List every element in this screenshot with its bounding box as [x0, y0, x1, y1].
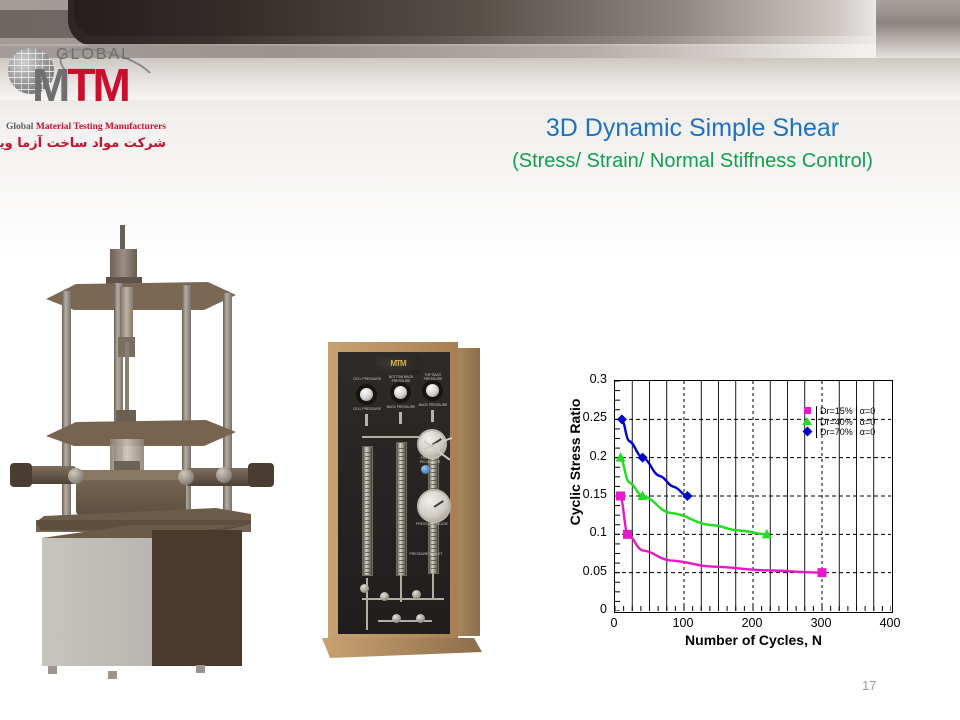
chart-legend-row: Dr=15%α=0 — [798, 406, 878, 417]
machine-foot-2 — [108, 671, 117, 679]
console-valve-2[interactable] — [399, 412, 402, 424]
machine-right-actuator-motor — [248, 463, 274, 487]
console-gauge-label-2: PRESSURE REGULATOR — [412, 456, 448, 464]
load-frame-figure — [10, 225, 280, 670]
chart-x-tick-3: 300 — [796, 616, 846, 630]
console-pipe-vertical-3 — [432, 572, 434, 600]
control-panel-figure: MTM CELL PRESSURE BOTTOM BACK PRESSURE T… — [320, 342, 490, 668]
chart-y-tick-1: 0.05 — [545, 564, 607, 578]
chart-legend-label: Dr=70% — [817, 427, 857, 438]
page-subtitle: (Stress/ Strain/ Normal Stiffness Contro… — [440, 150, 945, 173]
chart-y-tick-2: 0.1 — [545, 525, 607, 539]
machine-lower-housing-highlight — [76, 470, 186, 480]
header-band-right-block — [876, 0, 960, 58]
console-switch-label-3: TOP BACK PRESSURE — [416, 373, 450, 381]
cyclic-stress-ratio-chart: Cyclic Stress Ratio 00.050.10.150.20.250… — [545, 360, 915, 660]
chart-legend-table: Dr=15%α=0Dr=40%α=0Dr=70%α=0 — [798, 406, 878, 438]
console-outlet-knob-1[interactable] — [360, 584, 369, 593]
machine-left-actuator-motor — [10, 463, 32, 487]
console-blue-knob[interactable] — [421, 465, 430, 474]
console-switch-label-1: CELL PRESSURE — [350, 377, 384, 381]
chart-x-tick-2: 200 — [727, 616, 777, 630]
console-switch-label-2: BOTTOM BACK PRESSURE — [384, 375, 418, 383]
chart-y-tick-0: 0 — [545, 602, 607, 616]
console-switch-1[interactable] — [360, 388, 373, 401]
console-outlet-knob-2[interactable] — [380, 592, 389, 601]
logo-mtm-t: T — [67, 59, 92, 111]
logo-tagline-part1: Global — [6, 122, 36, 132]
chart-legend-alpha: α=0 — [856, 417, 878, 428]
console-pressure-needle — [434, 500, 444, 507]
machine-plinth-front — [42, 538, 152, 666]
chart-legend: Dr=15%α=0Dr=40%α=0Dr=70%α=0 — [798, 406, 878, 438]
logo-tagline: Global Material Testing Manufacturers — [6, 122, 166, 132]
console-burette-1 — [362, 446, 373, 576]
logo-mtm-m2: M — [92, 59, 127, 111]
console-pressure-gauge — [417, 489, 451, 523]
chart-legend-label: Dr=15% — [817, 406, 857, 417]
console-front-panel: MTM CELL PRESSURE BOTTOM BACK PRESSURE T… — [338, 352, 450, 634]
slide-canvas: GLOBAL MTM Global Material Testing Manuf… — [0, 0, 960, 720]
machine-coupling-b — [178, 469, 194, 485]
console-cabinet-foot — [322, 638, 482, 658]
page-number: 17 — [862, 678, 876, 693]
machine-foot-3 — [196, 665, 205, 673]
machine-loading-rod — [125, 342, 129, 410]
logo-mtm-m1: M — [32, 59, 67, 111]
chart-plot-area: Dr=15%α=0Dr=40%α=0Dr=70%α=0 — [614, 380, 893, 613]
header-band-dark-inner — [74, 0, 874, 36]
chart-x-tick-1: 100 — [658, 616, 708, 630]
logo-mtm-wordmark: MTM — [32, 62, 128, 108]
chart-legend-marker-square-icon — [798, 406, 817, 417]
machine-top-plate — [46, 282, 236, 310]
logo-tagline-part2: Material Testing Manufacturers — [36, 122, 166, 132]
company-logo: GLOBAL MTM Global Material Testing Manuf… — [6, 38, 166, 124]
chart-x-tick-0: 0 — [589, 616, 639, 630]
console-valve-3[interactable] — [431, 410, 434, 422]
console-outlet-knob-3[interactable] — [412, 590, 421, 599]
chart-legend-alpha: α=0 — [856, 406, 878, 417]
console-bottom-label: PRESSURE OUTLET — [404, 552, 448, 556]
console-valve-1[interactable] — [365, 414, 368, 426]
console-valve-label-3: BACK PRESSURE — [416, 403, 450, 407]
console-valve-label-2: BACK PRESSURE — [384, 405, 418, 409]
page-title: 3D Dynamic Simple Shear — [440, 114, 945, 143]
console-switch-2[interactable] — [394, 386, 407, 399]
chart-y-tick-6: 0.3 — [545, 372, 607, 386]
console-panel-logo: MTM — [376, 356, 420, 374]
machine-coupling-a — [68, 468, 84, 484]
console-pipe-horizontal-1 — [362, 598, 444, 600]
machine-motor-rod — [120, 225, 125, 251]
machine-plinth-side — [152, 530, 242, 666]
chart-y-tick-3: 0.15 — [545, 487, 607, 501]
chart-y-tick-5: 0.25 — [545, 410, 607, 424]
chart-legend-row: Dr=70%α=0 — [798, 427, 878, 438]
chart-legend-alpha: α=0 — [856, 427, 878, 438]
chart-legend-label: Dr=40% — [817, 417, 857, 428]
chart-x-axis-title: Number of Cycles, N — [614, 632, 893, 648]
chart-legend-row: Dr=40%α=0 — [798, 417, 878, 428]
console-outlet-knob-5[interactable] — [416, 614, 425, 623]
chart-legend-marker-diamond-icon — [798, 427, 817, 438]
console-switch-3[interactable] — [426, 384, 439, 397]
console-outlet-knob-4[interactable] — [392, 614, 401, 623]
console-gauge-label-1: PRESSURE GAUGE — [412, 522, 452, 526]
machine-foot-1 — [48, 666, 57, 674]
machine-actuator-cylinder — [120, 287, 133, 342]
chart-y-tick-4: 0.2 — [545, 449, 607, 463]
logo-farsi-text: شرکت مواد ساخت آزما ویستا — [6, 136, 166, 151]
chart-x-tick-4: 400 — [865, 616, 915, 630]
console-valve-label-1: CELL PRESSURE — [350, 407, 384, 411]
machine-coupling-c — [216, 467, 232, 483]
console-panel-logo-text: MTM — [376, 356, 420, 372]
